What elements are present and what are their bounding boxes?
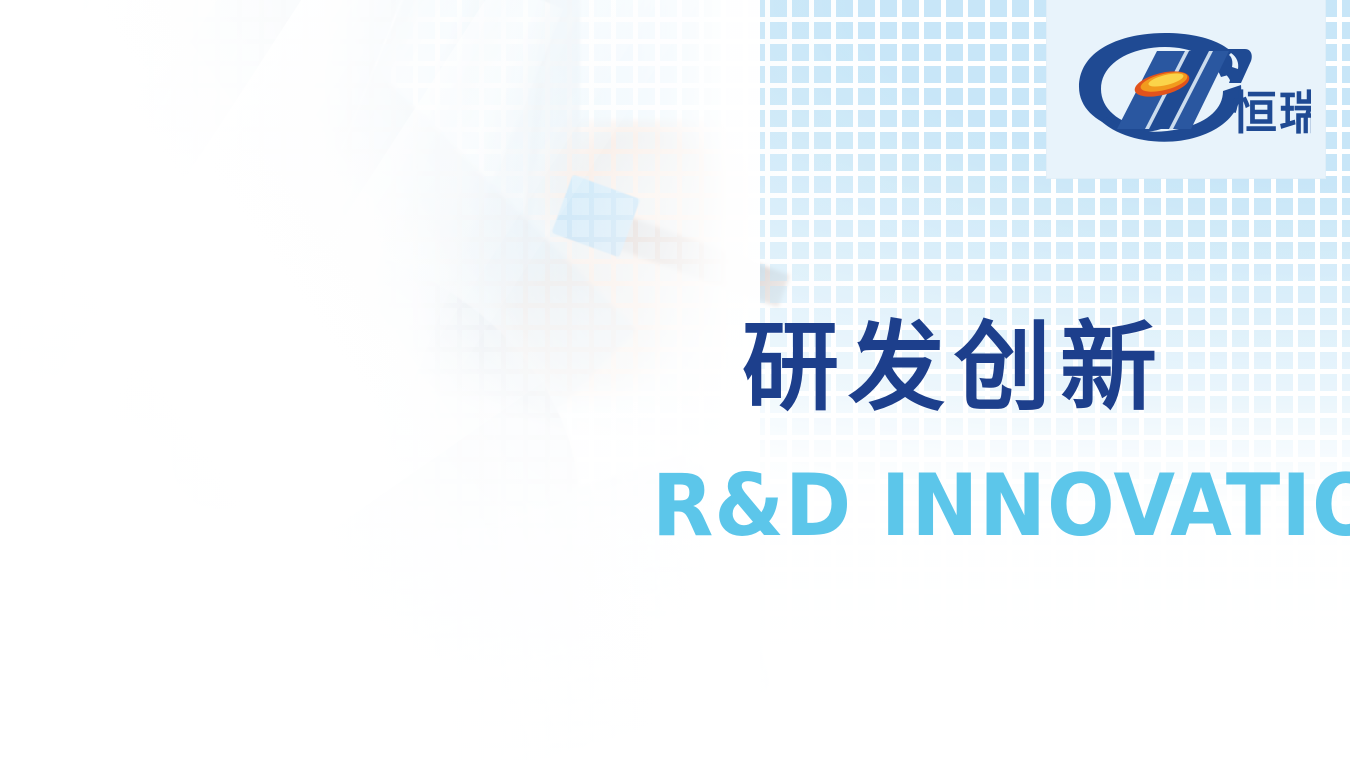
page-title-cn: 研发创新 xyxy=(742,318,1342,419)
headline-block: 研发创新 xyxy=(742,318,1342,419)
rd-innovation-banner: 恒瑞 恒瑞 研发创新 R&D INNOVATION xyxy=(0,0,1350,760)
photo-white-haze xyxy=(0,0,760,760)
hengrui-logo-mark: 恒瑞 xyxy=(1061,25,1311,153)
logo-panel: 恒瑞 恒瑞 xyxy=(1047,0,1325,178)
svg-text:恒瑞: 恒瑞 xyxy=(1231,86,1311,140)
hengrui-logo: 恒瑞 恒瑞 xyxy=(1061,25,1311,153)
page-subtitle-en: R&D INNOVATION xyxy=(652,463,1350,549)
